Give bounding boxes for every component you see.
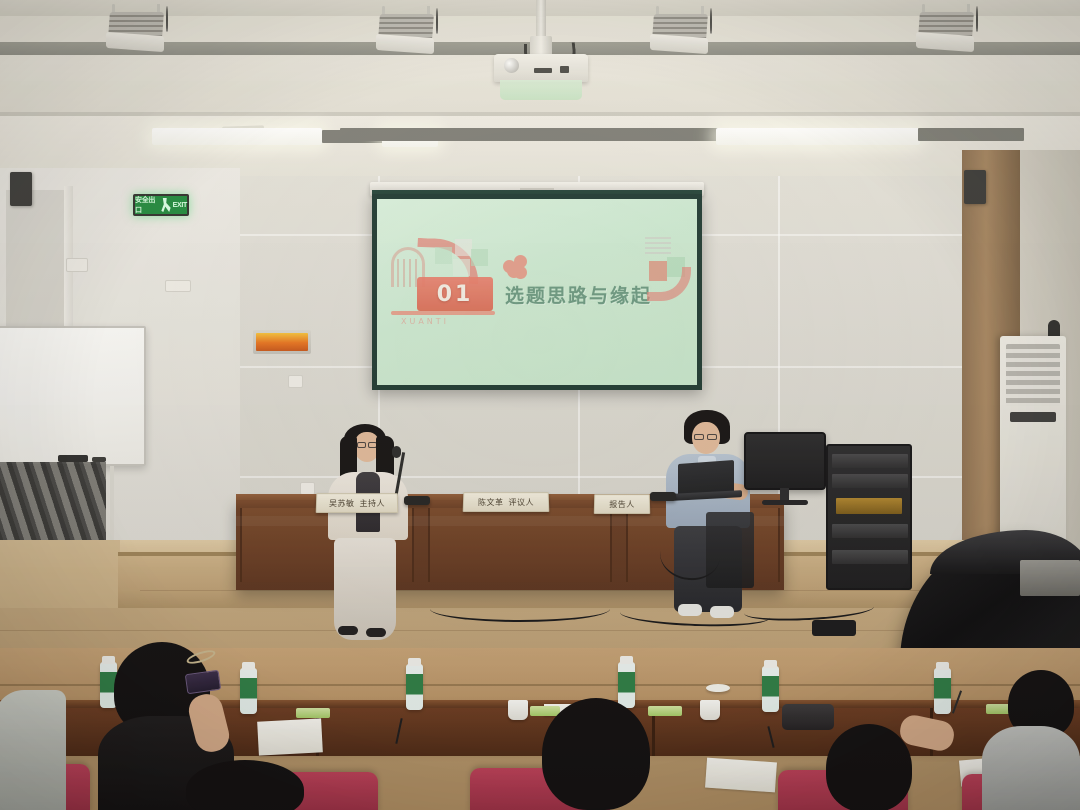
- moderator-skirt: [334, 538, 396, 640]
- ceiling-strip-light-3: [716, 128, 920, 145]
- cable-power-strip: [812, 620, 856, 636]
- projector-underside: [500, 80, 582, 100]
- moderator-shoe-left: [338, 626, 358, 635]
- emergency-exit-sign: 安全出口 EXIT: [133, 194, 189, 216]
- wall-speaker-left: [10, 172, 32, 206]
- ceiling-spotlight-1: [106, 4, 166, 52]
- nameplate-moderator-name: 吴苏敏: [329, 498, 355, 509]
- slide-right-swoosh-icon: [647, 267, 691, 301]
- water-bottle-6[interactable]: [934, 668, 951, 714]
- person-moderator: [318, 420, 428, 630]
- paper-cup-1[interactable]: [508, 700, 528, 720]
- water-bottle-cap-1: [102, 656, 115, 664]
- moderator-glasses-left: [357, 442, 366, 448]
- water-bottle-cap-6: [936, 662, 949, 670]
- slide-right-lines-icon: [645, 237, 671, 257]
- slide-square-green-2: [471, 249, 488, 266]
- water-bottle-3[interactable]: [406, 664, 423, 710]
- paper-cup-2[interactable]: [700, 700, 720, 720]
- ac-vent-grille-icon: [1006, 344, 1060, 406]
- rack-shelf-2: [832, 474, 908, 488]
- monitor-stand-base: [762, 500, 808, 505]
- ceiling-spotlight-2: [376, 6, 436, 54]
- nameplate-discussant-role: 评议人: [508, 497, 534, 508]
- slide-surface: 01 XUANTI 选题思路与缘起: [377, 199, 697, 385]
- slide-subtitle-latin: XUANTI: [401, 317, 449, 326]
- ceiling-strip-dark-3: [918, 128, 1024, 141]
- equipment-rack: [826, 444, 912, 590]
- presenter-glasses-left: [694, 434, 704, 440]
- projector-mount-pole: [536, 0, 546, 40]
- rack-amber-panel: [836, 498, 902, 514]
- ceiling-strip-light-1: [152, 128, 322, 145]
- seminar-room-photo: 安全出口 EXIT 01: [0, 0, 1080, 810]
- nameplate-discussant: 陈文革 评议人: [463, 492, 550, 512]
- whiteboard-marker[interactable]: [58, 455, 88, 462]
- nameplate-presenter-role: 报告人: [609, 499, 635, 510]
- nameplate-presenter: 报告人: [594, 494, 650, 514]
- floor-cable-1: [430, 596, 610, 622]
- audience-paper-1[interactable]: [257, 718, 323, 755]
- projector-port-strip: [534, 68, 552, 73]
- piano-bench: [1020, 560, 1080, 596]
- microphone-head-left: [392, 446, 401, 458]
- audience-body-6: [0, 690, 66, 810]
- projection-screen: 01 XUANTI 选题思路与缘起: [372, 194, 702, 390]
- snack-pack-1[interactable]: [296, 708, 330, 718]
- paper-cup-2-rim: [706, 684, 730, 692]
- water-bottle-4[interactable]: [618, 662, 635, 708]
- exit-sign-label-right: EXIT: [173, 202, 187, 209]
- light-switch-upper[interactable]: [288, 375, 303, 388]
- rack-shelf-4: [832, 550, 908, 564]
- desktop-monitor[interactable]: [744, 432, 826, 490]
- moderator-shoe-right: [366, 628, 386, 637]
- water-bottle-cap-3: [408, 658, 421, 666]
- rack-shelf-1: [832, 454, 908, 468]
- ac-control-panel[interactable]: [1010, 412, 1056, 422]
- ceiling-spotlight-3: [650, 6, 710, 54]
- nameplate-moderator-role: 主持人: [359, 498, 385, 509]
- slide-section-badge: 01: [417, 277, 493, 311]
- projector-port-a: [560, 66, 569, 73]
- slide-badge-underline: [391, 311, 495, 315]
- audience-bag: [782, 704, 834, 730]
- heater-element-icon: [256, 333, 308, 351]
- whiteboard[interactable]: [0, 326, 146, 466]
- slide-flower-icon: [503, 255, 527, 279]
- slide-title: 选题思路与缘起: [505, 281, 652, 308]
- water-bottle-cap-4: [620, 656, 633, 664]
- audience-head-2: [542, 698, 650, 810]
- water-bottle-cap-5: [764, 660, 777, 668]
- exit-sign-label-left: 安全出口: [135, 195, 159, 215]
- water-bottle-cap-2: [242, 662, 255, 670]
- projector-lens-icon: [504, 58, 519, 73]
- snack-pack-2[interactable]: [530, 706, 560, 716]
- ceiling-spotlight-4: [916, 4, 976, 52]
- slide-square-green-1: [435, 247, 452, 264]
- wall-heater[interactable]: [253, 330, 311, 354]
- slide-square-white-1: [455, 239, 472, 256]
- presenter-glasses-right: [707, 434, 717, 440]
- nameplate-discussant-name: 陈文革: [478, 497, 504, 508]
- audience-paper-3[interactable]: [705, 758, 777, 793]
- slide-section-number: 01: [437, 282, 474, 307]
- rack-shelf-3: [832, 524, 908, 538]
- snack-pack-3[interactable]: [648, 706, 682, 716]
- wall-panel-left[interactable]: [66, 258, 88, 272]
- water-bottle-2[interactable]: [240, 668, 257, 714]
- microphone-base-right: [650, 492, 676, 501]
- audience-body-5: [982, 726, 1080, 810]
- wall-speaker-right: [964, 170, 986, 204]
- microphone-base-left: [404, 496, 430, 505]
- ceiling-strip-dark-2: [340, 128, 720, 141]
- audience-head-4: [826, 724, 912, 810]
- nameplate-moderator: 吴苏敏 主持人: [316, 493, 399, 513]
- running-man-icon: [161, 198, 171, 212]
- slide-square-white-2: [453, 259, 470, 276]
- water-bottle-5[interactable]: [762, 666, 779, 712]
- wall-sign-small: [165, 280, 191, 292]
